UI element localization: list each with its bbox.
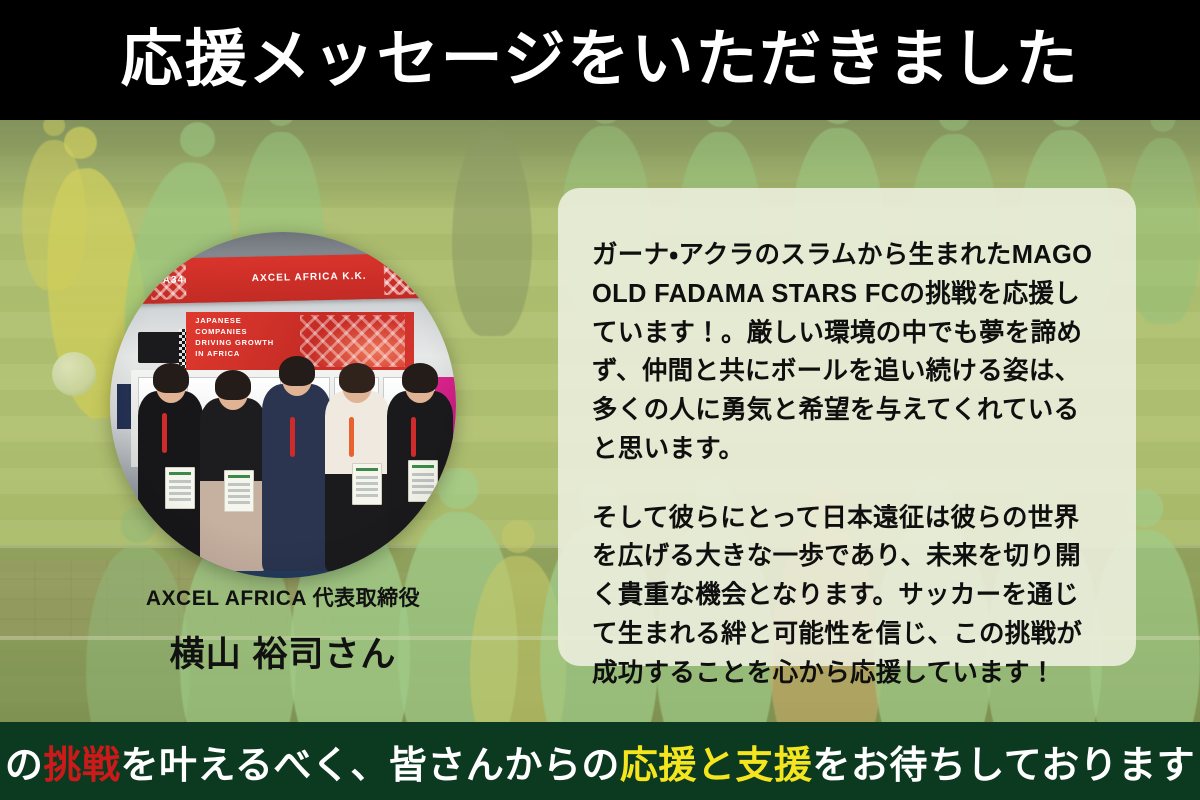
footer-segment: この bbox=[0, 745, 43, 787]
message-paragraph-2: そして彼らにとって日本遠征は彼らの世界を広げる大きな一歩であり、未来を切り開く貴… bbox=[592, 499, 1102, 693]
message-panel: ガーナ・アクラのスラムから生まれたMAGO OLD FADAMA STARS F… bbox=[558, 188, 1136, 666]
representative-photo: A34 AXCEL AFRICA K.K. JAPANESE COMPANIES… bbox=[110, 232, 456, 578]
footer-segment: をお待ちしております！ bbox=[812, 745, 1200, 787]
promo-graphic: 応援メッセージをいただきました A34 AXCEL AFRICA K.K. JA… bbox=[0, 0, 1200, 800]
footer-segment-highlight-red: 挑戦 bbox=[43, 745, 120, 787]
footer-call-to-action: この挑戦を叶えるべく、皆さんからの応援と支援をお待ちしております！ bbox=[0, 734, 1200, 789]
footer-segment-highlight-yellow: 応援と支援 bbox=[620, 745, 813, 787]
header-banner: 応援メッセージをいただきました bbox=[0, 0, 1200, 120]
message-paragraph-1: ガーナ・アクラのスラムから生まれたMAGO OLD FADAMA STARS F… bbox=[592, 236, 1102, 469]
page-title: 応援メッセージをいただきました bbox=[0, 29, 1200, 91]
photo-caption: AXCEL AFRICA 代表取締役 横山 裕司さん bbox=[38, 582, 528, 677]
footer-banner: この挑戦を叶えるべく、皆さんからの応援と支援をお待ちしております！ bbox=[0, 722, 1200, 800]
footer-segment: を叶えるべく、皆さんからの bbox=[120, 745, 619, 787]
photo-vignette bbox=[110, 232, 456, 578]
caption-role: AXCEL AFRICA 代表取締役 bbox=[38, 582, 528, 612]
caption-name: 横山 裕司さん bbox=[38, 626, 528, 677]
